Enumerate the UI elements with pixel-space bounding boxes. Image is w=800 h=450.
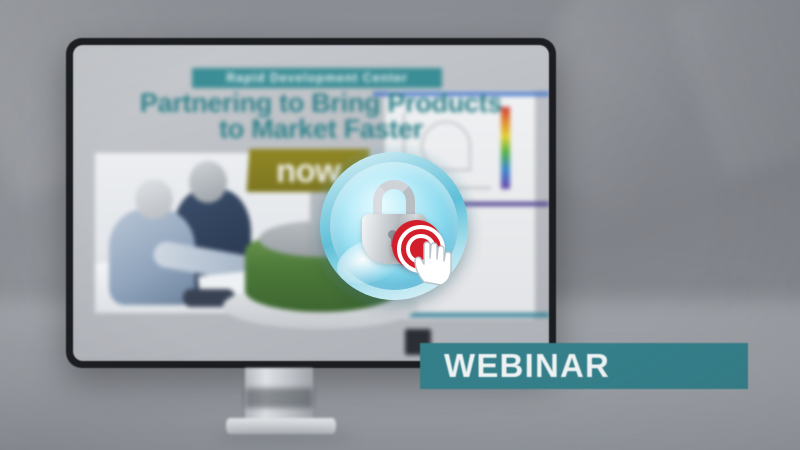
photo-person-1-head (135, 179, 173, 219)
webinar-banner: WEBINAR (420, 343, 748, 389)
wall-highlight-corner (668, 0, 800, 180)
monitor-screen: now Rapid Development Center Partnering … (73, 45, 549, 361)
slide-headline-line2: to Market Faster (121, 117, 521, 143)
security-lock-badge[interactable] (320, 152, 468, 300)
hand-cursor-icon (412, 236, 456, 286)
monitor-stand-shadow (245, 388, 313, 408)
photo-person-2-head (189, 161, 227, 203)
webinar-label: WEBINAR (444, 347, 610, 385)
slide-eyebrow-banner: Rapid Development Center (192, 68, 442, 88)
promo-scene: now Rapid Development Center Partnering … (0, 0, 800, 450)
monitor: now Rapid Development Center Partnering … (66, 38, 556, 368)
monitor-stand-base-shadow (214, 430, 354, 444)
presentation-slide: now Rapid Development Center Partnering … (73, 45, 549, 361)
slide-headline: Partnering to Bring Products to Market F… (121, 91, 521, 143)
slide-eyebrow-label: Rapid Development Center (226, 71, 407, 85)
